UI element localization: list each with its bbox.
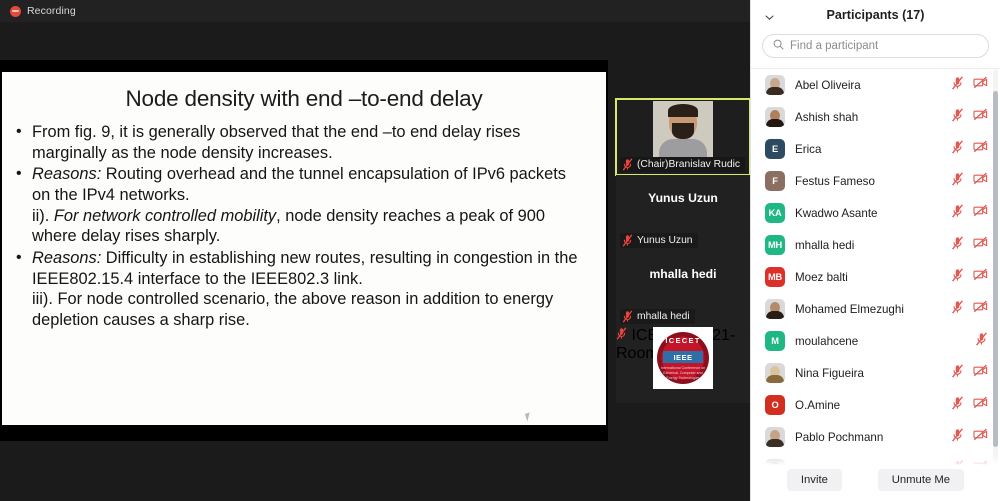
participant-status-icons (951, 140, 988, 159)
bullet-rest: Difficulty in establishing new routes, r… (32, 249, 577, 288)
mic-muted-icon[interactable] (951, 140, 964, 159)
participant-row[interactable]: Ashish shah (751, 101, 1000, 133)
slide-bottom-bar (0, 425, 608, 441)
tile-name: mhalla hedi (637, 311, 690, 322)
participant-avatar: O (765, 395, 785, 415)
recording-label: Recording (27, 5, 76, 17)
logo-circle: ICECET IEEE International Conference on … (657, 332, 709, 384)
participant-name: Pablo Pochmann (795, 431, 941, 444)
participants-title: Participants (17) (751, 8, 1000, 22)
participant-row[interactable]: Pablo Pochmann (751, 421, 1000, 453)
video-muted-icon[interactable] (973, 76, 988, 94)
participant-name: Abel Oliveira (795, 79, 941, 92)
slide-bullet: • Reasons: Routing overhead and the tunn… (16, 164, 588, 247)
bullet-sub-number: iii). For node controlled scenario, the … (32, 290, 553, 329)
tile-name-badge: (Chair)Branislav Rudic (620, 157, 745, 172)
zoom-meeting-window: Recording Node density with end –to-end … (0, 0, 1000, 501)
photo-beard (672, 123, 694, 139)
bullet-emphasis: Reasons: (32, 165, 101, 183)
video-muted-icon[interactable] (973, 460, 988, 465)
search-placeholder: Find a participant (790, 40, 878, 52)
avatar-body (766, 439, 784, 447)
bullet-sub-number: ii). (32, 207, 54, 225)
chevron-down-icon[interactable] (765, 9, 774, 18)
mic-muted-icon[interactable] (951, 204, 964, 223)
participant-avatar: MB (765, 267, 785, 287)
participant-name: Nina Figueira (795, 367, 941, 380)
participant-name: moulahcene (795, 335, 965, 348)
participant-status-icons (951, 76, 988, 95)
participant-status-icons (951, 236, 988, 255)
video-muted-icon[interactable] (973, 428, 988, 446)
slide-title: Node density with end –to-end delay (2, 72, 606, 116)
participant-status-icons (951, 396, 988, 415)
participant-name: Suzane Gaertner (795, 463, 941, 466)
mouse-cursor-icon (525, 412, 532, 421)
bullet-rest: Routing overhead and the tunnel encapsul… (32, 165, 566, 204)
unmute-me-button[interactable]: Unmute Me (878, 469, 964, 491)
participants-header: Participants (17) (751, 0, 1000, 30)
avatar-body (766, 311, 784, 319)
ieee-badge: IEEE (663, 351, 703, 363)
scrollbar-thumb[interactable] (993, 91, 998, 447)
bullet-text: Reasons: Difficulty in establishing new … (32, 248, 588, 331)
mic-muted-icon[interactable] (951, 396, 964, 415)
participant-status-icons (951, 300, 988, 319)
photo-hair (668, 104, 698, 117)
logo-ring-text: ICECET (657, 336, 709, 345)
bullet-text: Reasons: Routing overhead and the tunnel… (32, 164, 588, 247)
logo-subtitle: International Conference on Electrical, … (660, 366, 706, 381)
bullet-marker: • (16, 164, 25, 247)
participant-avatar (765, 299, 785, 319)
bullet-emphasis: For network controlled mobility (54, 207, 276, 225)
icecet-logo: ICECET IEEE International Conference on … (653, 327, 713, 389)
tile-name-badge: Yunus Uzun (620, 233, 698, 248)
participant-avatar: E (765, 139, 785, 159)
participant-status-icons (951, 460, 988, 466)
participants-list[interactable]: Abel OliveiraAshish shahEEricaFFestus Fa… (751, 68, 1000, 465)
participants-panel: Participants (17) Find a participant Abe… (750, 0, 1000, 501)
participant-row[interactable]: KAKwadwo Asante (751, 197, 1000, 229)
video-muted-icon[interactable] (973, 172, 988, 190)
participant-row[interactable]: Abel Oliveira (751, 69, 1000, 101)
participant-row[interactable]: OO.Amine (751, 389, 1000, 421)
mic-muted-icon[interactable] (951, 236, 964, 255)
participant-row[interactable]: MBMoez balti (751, 261, 1000, 293)
participant-status-icons (951, 364, 988, 383)
video-tile-yunus-uzun[interactable]: Yunus Uzun Yunus Uzun (616, 175, 750, 251)
participant-avatar (765, 363, 785, 383)
tile-center-name: Yunus Uzun (616, 191, 750, 205)
video-muted-icon[interactable] (973, 268, 988, 286)
participant-row[interactable]: FFestus Fameso (751, 165, 1000, 197)
avatar-body (766, 87, 784, 95)
participant-name: Kwadwo Asante (795, 207, 941, 220)
participant-avatar (765, 459, 785, 465)
participant-avatar: M (765, 331, 785, 351)
video-tile-mhalla-hedi[interactable]: mhalla hedi mhalla hedi (616, 251, 750, 327)
shared-screen[interactable]: Node density with end –to-end delay • Fr… (0, 60, 608, 441)
mic-muted-icon (622, 234, 633, 247)
avatar-head (770, 462, 780, 465)
participant-name: Erica (795, 143, 941, 156)
participant-avatar: KA (765, 203, 785, 223)
bullet-emphasis: Reasons: (32, 249, 101, 267)
mic-muted-icon[interactable] (975, 332, 988, 351)
video-muted-icon[interactable] (973, 140, 988, 158)
mic-muted-icon[interactable] (951, 364, 964, 383)
mic-muted-icon (622, 158, 633, 171)
participant-row[interactable]: Suzane Gaertner (751, 453, 1000, 465)
participant-name: Festus Fameso (795, 175, 941, 188)
mic-muted-icon[interactable] (951, 76, 964, 95)
participant-status-icons (951, 428, 988, 447)
video-muted-icon[interactable] (973, 300, 988, 318)
slide-body: • From fig. 9, it is generally observed … (2, 116, 606, 331)
tile-name-badge: mhalla hedi (620, 309, 695, 324)
video-muted-icon[interactable] (973, 396, 988, 414)
photo-body (659, 139, 707, 157)
participant-name: Moez balti (795, 271, 941, 284)
avatar-body (766, 375, 784, 383)
participant-avatar (765, 427, 785, 447)
participant-status-icons (951, 172, 988, 191)
participant-status-icons (951, 108, 988, 127)
bullet-marker: • (16, 122, 25, 163)
mic-muted-icon (622, 310, 633, 323)
presentation-slide: Node density with end –to-end delay • Fr… (2, 72, 606, 425)
search-participant-input[interactable]: Find a participant (762, 34, 989, 58)
avatar-body (766, 119, 784, 127)
mic-muted-icon[interactable] (951, 268, 964, 287)
participant-name: Ashish shah (795, 111, 941, 124)
video-muted-icon[interactable] (973, 204, 988, 222)
mic-muted-icon[interactable] (951, 460, 964, 466)
tile-name: Yunus Uzun (637, 235, 693, 246)
participant-avatar: MH (765, 235, 785, 255)
video-muted-icon[interactable] (973, 108, 988, 126)
participant-row[interactable]: Mohamed Elmezughi (751, 293, 1000, 325)
bullet-marker: • (16, 248, 25, 331)
invite-button[interactable]: Invite (787, 469, 842, 491)
mic-muted-icon[interactable] (951, 300, 964, 319)
slide-bullet: • From fig. 9, it is generally observed … (16, 122, 588, 163)
mic-muted-icon (616, 327, 627, 340)
meeting-stage: Recording Node density with end –to-end … (0, 0, 750, 501)
mic-muted-icon[interactable] (951, 428, 964, 447)
mic-muted-icon[interactable] (951, 108, 964, 127)
search-icon (773, 37, 784, 55)
video-muted-icon[interactable] (973, 236, 988, 254)
participants-footer: Invite Unmute Me (751, 465, 1000, 501)
recording-dot-icon (10, 6, 21, 17)
participant-row[interactable]: Nina Figueira (751, 357, 1000, 389)
participant-avatar (765, 107, 785, 127)
bullet-text: From fig. 9, it is generally observed th… (32, 122, 588, 163)
tile-name: (Chair)Branislav Rudic (637, 159, 740, 170)
participant-avatar (765, 75, 785, 95)
participant-row[interactable]: Mmoulahcene (751, 325, 1000, 357)
mic-muted-icon[interactable] (951, 172, 964, 191)
video-muted-icon[interactable] (973, 364, 988, 382)
participant-name: Mohamed Elmezughi (795, 303, 941, 316)
tile-center-name: mhalla hedi (616, 267, 750, 281)
video-tile-active-speaker[interactable]: (Chair)Branislav Rudic (616, 99, 750, 175)
participant-photo (653, 101, 713, 157)
participant-avatar: F (765, 171, 785, 191)
participant-name: mhalla hedi (795, 239, 941, 252)
participant-status-icons (951, 204, 988, 223)
participant-row[interactable]: EErica (751, 133, 1000, 165)
participant-status-icons (975, 332, 988, 351)
recording-bar: Recording (0, 0, 750, 22)
video-tile-icecet-room-e[interactable]: ICECET IEEE International Conference on … (616, 327, 750, 403)
video-filmstrip: (Chair)Branislav Rudic Yunus Uzun Yunus … (612, 22, 750, 501)
participant-name: O.Amine (795, 399, 941, 412)
participant-status-icons (951, 268, 988, 287)
participant-row[interactable]: MHmhalla hedi (751, 229, 1000, 261)
slide-bullet: • Reasons: Difficulty in establishing ne… (16, 248, 588, 331)
search-row: Find a participant (751, 30, 1000, 64)
